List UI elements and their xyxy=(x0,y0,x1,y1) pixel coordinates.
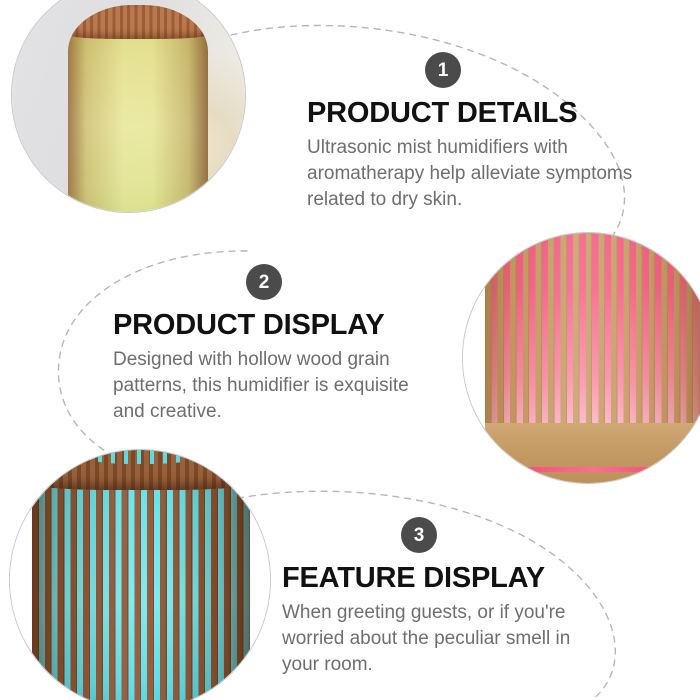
section-body: When greeting guests, or if you're worri… xyxy=(282,600,612,679)
photo-inner xyxy=(10,450,270,700)
humidifier-body xyxy=(32,450,250,700)
photo-inner xyxy=(12,0,245,212)
section-body: Ultrasonic mist humidifiers with aromath… xyxy=(307,135,637,214)
section-feature-display: 3 FEATURE DISPLAY When greeting guests, … xyxy=(282,517,612,679)
section-heading: PRODUCT DETAILS xyxy=(307,97,637,130)
humidifier-body xyxy=(485,233,700,483)
humidifier-base-light-line xyxy=(485,467,700,472)
section-body: Designed with hollow wood grain patterns… xyxy=(113,347,443,426)
product-photo-pink xyxy=(462,232,700,484)
step-badge-3: 3 xyxy=(401,517,437,553)
section-product-details: 1 PRODUCT DETAILS Ultrasonic mist humidi… xyxy=(307,52,637,214)
humidifier-body xyxy=(68,5,208,212)
section-product-display: 2 PRODUCT DISPLAY Designed with hollow w… xyxy=(113,264,443,426)
humidifier-base xyxy=(485,423,700,483)
section-heading: FEATURE DISPLAY xyxy=(282,562,612,595)
humidifier-top-vents xyxy=(89,450,194,464)
product-photo-warm-yellow xyxy=(11,0,246,213)
step-badge-2: 2 xyxy=(246,264,282,300)
humidifier-top-cap xyxy=(32,450,250,490)
product-infographic: 1 PRODUCT DETAILS Ultrasonic mist humidi… xyxy=(0,0,700,700)
step-badge-1: 1 xyxy=(425,52,461,88)
product-photo-cyan xyxy=(9,449,271,700)
photo-inner xyxy=(463,233,700,483)
section-heading: PRODUCT DISPLAY xyxy=(113,309,443,342)
